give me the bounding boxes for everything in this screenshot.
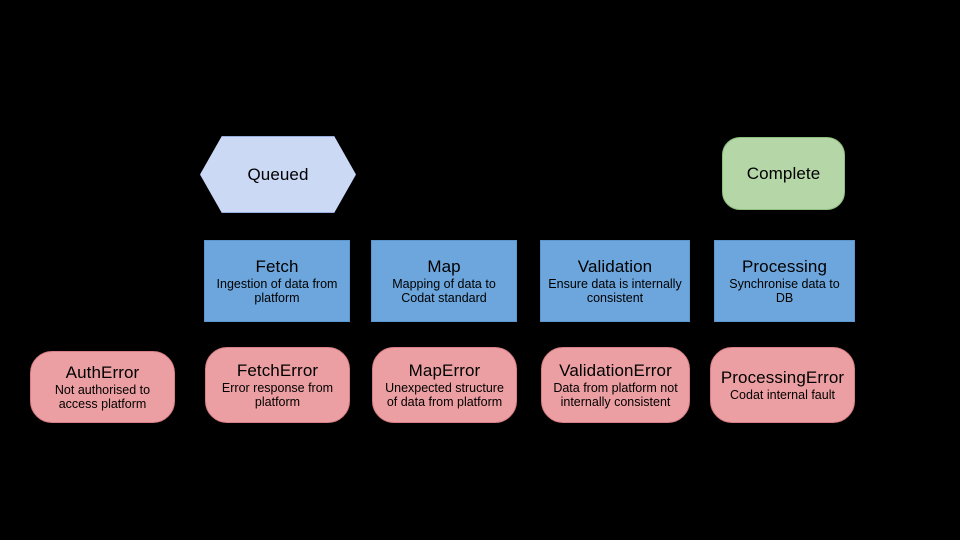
node-error-validationerror-title: ValidationError — [559, 361, 672, 380]
node-error-validationerror[interactable]: ValidationError Data from platform not i… — [541, 347, 690, 423]
node-stage-map-title: Map — [427, 257, 460, 276]
node-queued-label: Queued — [247, 165, 308, 184]
node-error-autherror[interactable]: AuthError Not authorised to access platf… — [30, 351, 175, 423]
node-complete-label: Complete — [747, 164, 821, 183]
node-error-validationerror-subtitle: Data from platform not internally consis… — [542, 381, 689, 409]
node-stage-processing-subtitle: Synchronise data to DB — [715, 277, 854, 305]
node-error-maperror-subtitle: Unexpected structure of data from platfo… — [373, 381, 516, 409]
node-error-processingerror[interactable]: ProcessingError Codat internal fault — [710, 347, 855, 423]
node-error-autherror-subtitle: Not authorised to access platform — [31, 383, 174, 411]
node-error-fetcherror-title: FetchError — [237, 361, 318, 380]
node-stage-validation[interactable]: Validation Ensure data is internally con… — [540, 240, 690, 322]
diagram-canvas: Queued Complete Fetch Ingestion of data … — [0, 0, 960, 540]
node-error-maperror[interactable]: MapError Unexpected structure of data fr… — [372, 347, 517, 423]
node-error-fetcherror-subtitle: Error response from platform — [206, 381, 349, 409]
node-error-fetcherror[interactable]: FetchError Error response from platform — [205, 347, 350, 423]
node-stage-validation-title: Validation — [578, 257, 652, 276]
node-error-processingerror-title: ProcessingError — [721, 368, 844, 387]
node-stage-processing-title: Processing — [742, 257, 827, 276]
node-error-processingerror-subtitle: Codat internal fault — [724, 388, 841, 402]
node-stage-fetch-title: Fetch — [255, 257, 298, 276]
node-stage-validation-subtitle: Ensure data is internally consistent — [541, 277, 689, 305]
node-stage-fetch-subtitle: Ingestion of data from platform — [205, 277, 349, 305]
node-error-autherror-title: AuthError — [66, 363, 140, 382]
node-error-maperror-title: MapError — [409, 361, 481, 380]
node-stage-map[interactable]: Map Mapping of data to Codat standard — [371, 240, 517, 322]
node-stage-fetch[interactable]: Fetch Ingestion of data from platform — [204, 240, 350, 322]
node-stage-processing[interactable]: Processing Synchronise data to DB — [714, 240, 855, 322]
node-stage-map-subtitle: Mapping of data to Codat standard — [372, 277, 516, 305]
node-complete[interactable]: Complete — [722, 137, 845, 210]
node-queued[interactable]: Queued — [200, 136, 356, 213]
